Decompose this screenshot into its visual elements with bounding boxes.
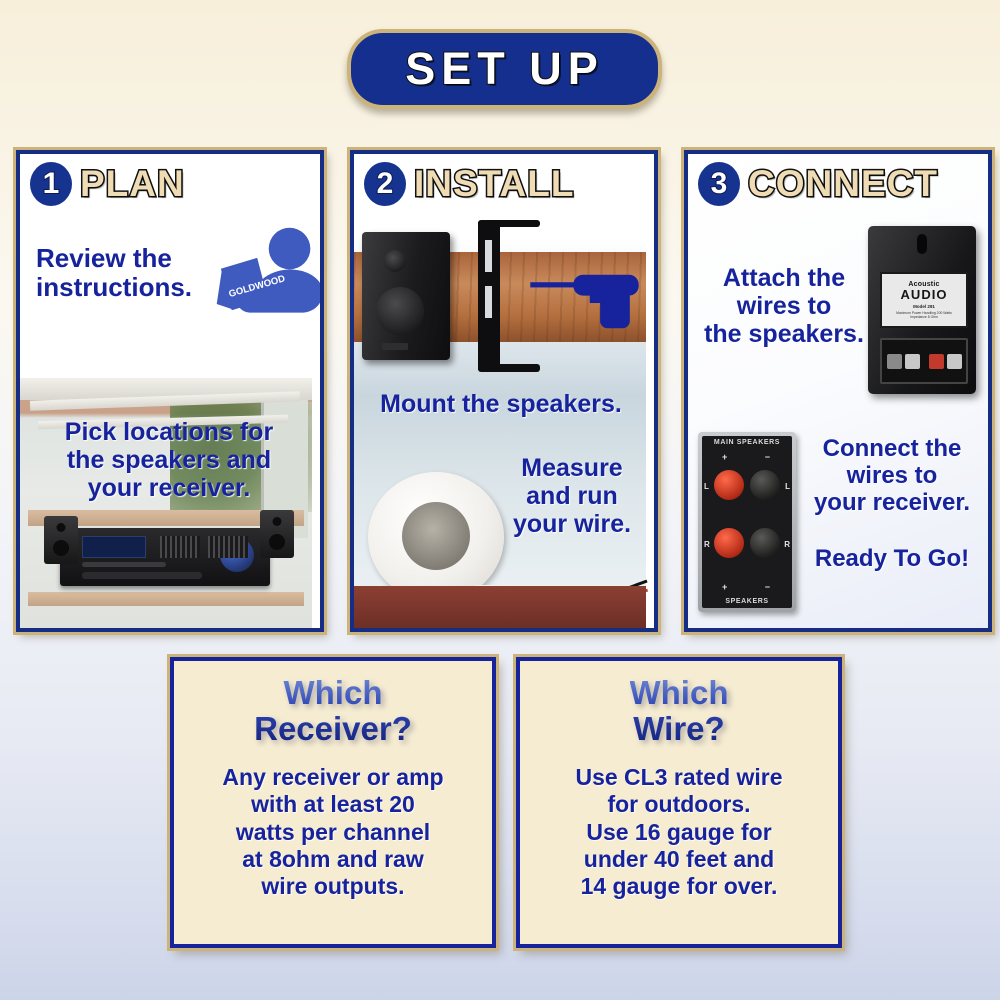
step-title-install: INSTALL xyxy=(414,163,574,205)
plus-symbol-right: + xyxy=(722,582,727,592)
channel-right-label: R xyxy=(704,540,710,549)
shelf-surface xyxy=(28,592,304,606)
label-fine-print: Maximum Power Handling 200 Watts Impedan… xyxy=(896,311,952,320)
plan-instruction-review: Review the instructions. xyxy=(36,244,192,302)
step-number-badge: 1 xyxy=(30,162,72,206)
pergola-patio-photo xyxy=(20,378,312,628)
bookshelf-speaker-icon xyxy=(362,232,450,360)
card-title-which-wire: Which Wire? xyxy=(630,675,729,746)
install-instruction-measure: Measure and run your wire. xyxy=(504,454,640,538)
stereo-receiver-icon xyxy=(60,528,270,586)
info-card-which-wire: Which Wire? Use CL3 rated wire for outdo… xyxy=(516,657,842,948)
wall-speaker-icon xyxy=(44,516,78,564)
bracket-slot xyxy=(485,240,492,272)
speaker-spec-label: Acoustic AUDIO Model 291 Maximum Power H… xyxy=(880,272,968,328)
info-card-which-receiver: Which Receiver? Any receiver or amp with… xyxy=(170,657,496,948)
receiver-display xyxy=(82,536,146,558)
spool-center-hole xyxy=(402,502,470,570)
woofer-icon xyxy=(376,287,424,335)
plan-instruction-locations: Pick locations for the speakers and your… xyxy=(30,418,308,502)
step-panel-install: 2 INSTALL Mount the speakers. Measure an… xyxy=(350,150,658,632)
l-bracket-icon xyxy=(478,222,500,370)
table-surface xyxy=(354,586,646,628)
step-panel-plan: GOLDWOOD 1 PLAN Review the instructions.… xyxy=(16,150,324,632)
tweeter-icon xyxy=(384,250,406,272)
l-bracket-icon xyxy=(478,364,540,372)
step-header-plan: 1 PLAN xyxy=(30,162,185,206)
step-title-connect: CONNECT xyxy=(748,163,938,205)
label-model: Model 291 xyxy=(913,304,935,309)
card-body-which-wire: Use CL3 rated wire for outdoors. Use 16 … xyxy=(575,764,782,900)
binding-caption-top: MAIN SPEAKERS xyxy=(702,439,792,446)
connect-ready-message: Ready To Go! xyxy=(806,546,978,573)
step-header-install: 2 INSTALL xyxy=(364,162,574,206)
step-header-connect: 3 CONNECT xyxy=(698,162,938,206)
step-title-plan: PLAN xyxy=(80,163,185,205)
keyhole-mount-icon xyxy=(917,234,927,254)
card-body-which-receiver: Any receiver or amp with at least 20 wat… xyxy=(222,764,443,900)
binding-post-right-negative[interactable] xyxy=(750,528,780,558)
minus-symbol-right: − xyxy=(765,582,770,592)
step-number-badge: 3 xyxy=(698,162,740,206)
minus-symbol-left: − xyxy=(765,452,770,462)
bracket-slot xyxy=(485,286,492,318)
terminal-pair-left xyxy=(887,354,920,369)
wire-spool-icon xyxy=(368,472,504,602)
speaker-rear-panel-icon: Acoustic AUDIO Model 291 Maximum Power H… xyxy=(868,226,976,394)
connect-instruction-speakers: Attach the wires to the speakers. xyxy=(696,264,872,348)
setup-banner: SET UP xyxy=(347,29,662,109)
page-title: SET UP xyxy=(405,43,604,95)
receiver-binding-post-panel: MAIN SPEAKERS SPEAKERS + − L L R R + − xyxy=(698,432,796,612)
binding-post-inner: MAIN SPEAKERS SPEAKERS + − L L R R + − xyxy=(702,436,792,608)
binding-post-left-negative[interactable] xyxy=(750,470,780,500)
channel-right-label-right: R xyxy=(784,540,790,549)
step-panel-connect: Acoustic AUDIO Model 291 Maximum Power H… xyxy=(684,150,992,632)
label-product: AUDIO xyxy=(901,288,948,301)
person-reading-book-icon: GOLDWOOD xyxy=(206,226,324,330)
power-drill-icon xyxy=(530,254,642,332)
install-instruction-mount: Mount the speakers. xyxy=(362,390,640,418)
binding-post-left-positive[interactable] xyxy=(714,470,744,500)
channel-left-label-right: L xyxy=(785,482,790,491)
binding-caption-bottom: SPEAKERS xyxy=(702,598,792,605)
connect-instruction-receiver: Connect the wires to your receiver. xyxy=(806,436,978,517)
terminal-pair-right xyxy=(929,354,962,369)
plus-symbol-left: + xyxy=(722,452,727,462)
channel-left-label: L xyxy=(704,482,709,491)
card-title-which-receiver: Which Receiver? xyxy=(254,675,412,746)
binding-post-right-positive[interactable] xyxy=(714,528,744,558)
speaker-wire-terminal xyxy=(880,338,968,384)
step-number-badge: 2 xyxy=(364,162,406,206)
wall-speaker-icon xyxy=(260,510,294,558)
